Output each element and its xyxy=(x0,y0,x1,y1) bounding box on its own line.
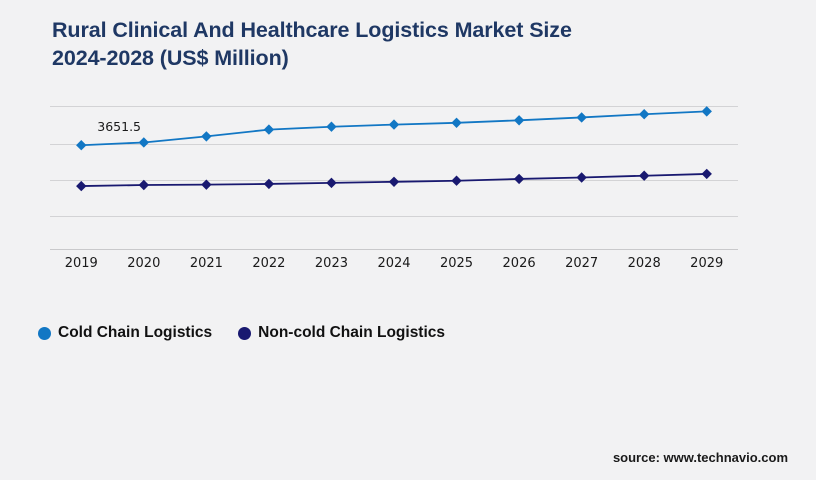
legend-item-cold-chain-logistics[interactable]: Cold Chain Logistics xyxy=(38,324,212,342)
x-tick-label-2021: 2021 xyxy=(176,256,236,271)
x-axis-baseline xyxy=(50,249,738,250)
gridline-2700 xyxy=(50,216,738,217)
gridline-3200 xyxy=(50,180,738,181)
legend-label-non-cold-chain: Non-cold Chain Logistics xyxy=(258,324,445,342)
legend-swatch-icon-cold-chain xyxy=(38,327,51,340)
legend-label-cold-chain: Cold Chain Logistics xyxy=(58,324,212,342)
chart-legend: Cold Chain Logistics Non-cold Chain Logi… xyxy=(38,324,445,342)
x-tick-label-2023: 2023 xyxy=(301,256,361,271)
x-tick-label-2019: 2019 xyxy=(51,256,111,271)
x-tick-label-2027: 2027 xyxy=(552,256,612,271)
x-tick-label-2020: 2020 xyxy=(114,256,174,271)
source-note: source: www.technavio.com xyxy=(613,450,788,465)
x-tick-label-2025: 2025 xyxy=(427,256,487,271)
gridline-4200 xyxy=(50,106,738,107)
x-tick-label-2022: 2022 xyxy=(239,256,299,271)
x-axis-tick-labels: 2019202020212022202320242025202620272028… xyxy=(50,256,738,276)
x-tick-label-2029: 2029 xyxy=(677,256,737,271)
plot-area xyxy=(50,98,738,250)
gridline-3700 xyxy=(50,144,738,145)
x-tick-label-2026: 2026 xyxy=(489,256,549,271)
page-title: Rural Clinical And Healthcare Logistics … xyxy=(52,16,752,72)
legend-item-non-cold-chain-logistics[interactable]: Non-cold Chain Logistics xyxy=(238,324,445,342)
data-label-3651-5: 3651.5 xyxy=(97,119,141,134)
legend-swatch-icon-non-cold-chain xyxy=(238,327,251,340)
chart-card: Rural Clinical And Healthcare Logistics … xyxy=(0,0,816,480)
x-tick-label-2028: 2028 xyxy=(614,256,674,271)
x-tick-label-2024: 2024 xyxy=(364,256,424,271)
